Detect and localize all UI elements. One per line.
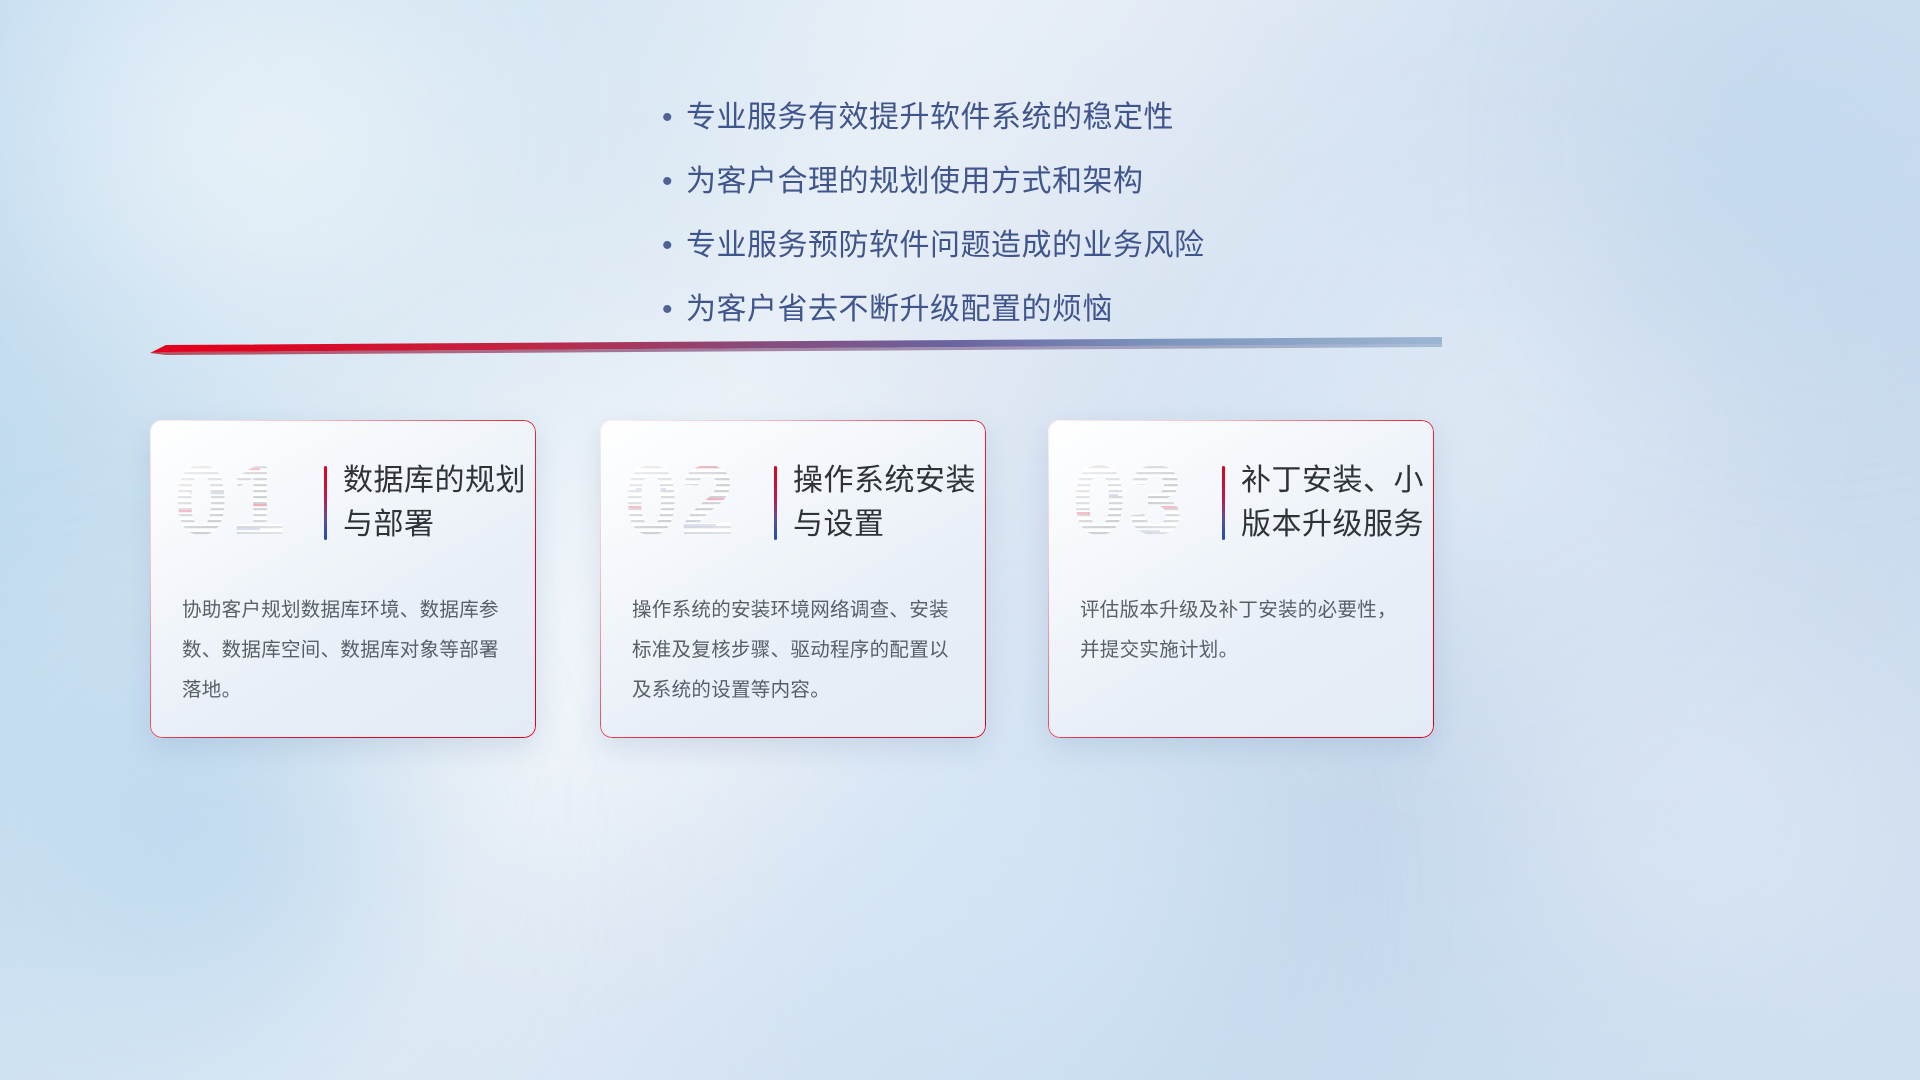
card-number-01: 01 xyxy=(170,448,322,558)
card-header: 01 数据库的规 xyxy=(150,444,536,562)
card-number-02: 02 xyxy=(620,448,772,558)
card-header: 03 补丁安装、 xyxy=(1048,444,1434,562)
service-card[interactable]: 01 数据库的规 xyxy=(150,420,536,738)
service-card[interactable]: 02 操作系统安 xyxy=(600,420,986,738)
card-title-separator xyxy=(324,466,327,540)
striped-number-icon: 01 xyxy=(170,448,322,558)
card-title: 数据库的规划 与部署 xyxy=(343,459,534,547)
card-title: 补丁安装、小 版本升级服务 xyxy=(1241,459,1432,547)
striped-number-icon: 02 xyxy=(620,448,772,558)
card-body-text: 评估版本升级及补丁安装的必要性，并提交实施计划。 xyxy=(1080,590,1408,670)
card-title-separator xyxy=(774,466,777,540)
service-card-group: 01 数据库的规 xyxy=(0,0,1920,1080)
card-title: 操作系统安装 与设置 xyxy=(793,459,984,547)
service-card[interactable]: 03 补丁安装、 xyxy=(1048,420,1434,738)
card-body-text: 协助客户规划数据库环境、数据库参数、数据库空间、数据库对象等部署落地。 xyxy=(182,590,510,710)
card-number-03: 03 xyxy=(1068,448,1220,558)
card-body-text: 操作系统的安装环境网络调查、安装标准及复核步骤、驱动程序的配置以及系统的设置等内… xyxy=(632,590,960,710)
card-title-separator xyxy=(1222,466,1225,540)
card-header: 02 操作系统安 xyxy=(600,444,986,562)
striped-number-icon: 03 xyxy=(1068,448,1220,558)
